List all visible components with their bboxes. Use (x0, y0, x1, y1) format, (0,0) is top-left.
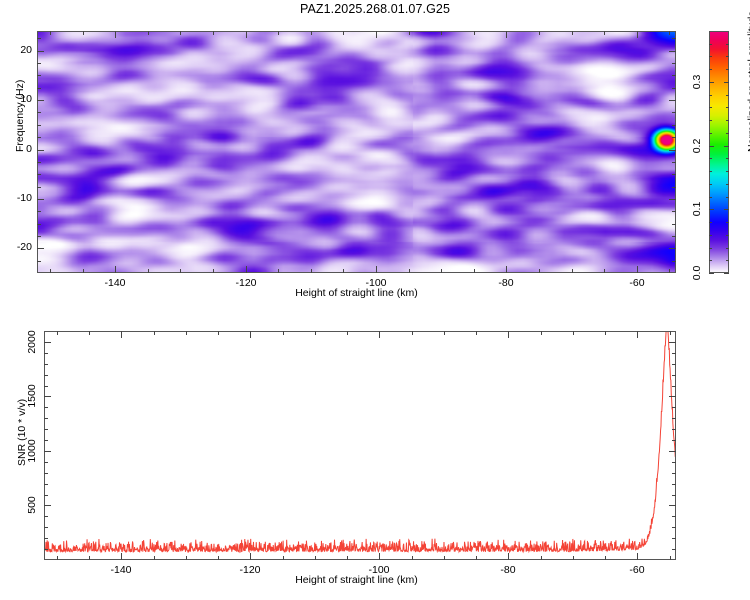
tick-mark (709, 209, 714, 210)
tick-mark (37, 75, 41, 76)
tick-mark (250, 553, 251, 560)
tick-mark (572, 269, 573, 273)
tick-mark (669, 100, 676, 101)
tick-mark (726, 95, 729, 96)
tick-mark (726, 171, 729, 172)
tick-mark (637, 553, 638, 560)
tick-mark (709, 56, 712, 57)
tick-mark (709, 171, 712, 172)
tick-label: 0 (26, 143, 32, 155)
tick-mark (44, 527, 48, 528)
tick-mark (672, 187, 676, 188)
spectrogram-y-axis-label: Frequency (Hz) (14, 80, 26, 152)
tick-label: 20 (20, 44, 32, 56)
tick-mark (709, 184, 712, 185)
tick-mark (37, 211, 41, 212)
tick-mark (57, 556, 58, 560)
tick-mark (44, 407, 48, 408)
tick-mark (726, 260, 729, 261)
tick-mark (506, 31, 507, 38)
tick-mark (376, 31, 377, 38)
tick-mark (44, 353, 48, 354)
tick-mark (672, 386, 676, 387)
tick-mark (669, 51, 676, 52)
colorbar-tick-label: 0.0 (691, 266, 703, 281)
tick-mark (115, 266, 116, 273)
tick-mark (315, 556, 316, 560)
tick-mark (672, 538, 676, 539)
tick-mark (508, 331, 509, 338)
tick-mark (44, 451, 51, 452)
colorbar-tick-label: 0.2 (691, 139, 703, 154)
tick-mark (376, 266, 377, 273)
tick-mark (474, 269, 475, 273)
tick-mark (444, 331, 445, 335)
colorbar-axis-label: Normalized spectral amplitude (746, 11, 750, 152)
tick-mark (44, 364, 48, 365)
tick-mark (278, 269, 279, 273)
tick-mark (44, 386, 48, 387)
tick-mark (672, 364, 676, 365)
tick-mark (669, 150, 676, 151)
tick-mark (709, 95, 712, 96)
tick-mark (709, 235, 712, 236)
tick-mark (44, 462, 48, 463)
tick-mark (726, 107, 729, 108)
tick-mark (724, 82, 729, 83)
tick-mark (37, 236, 41, 237)
tick-mark (709, 273, 714, 274)
tick-mark (476, 556, 477, 560)
tick-label: -20 (17, 241, 32, 253)
tick-mark (724, 146, 729, 147)
spectrogram-x-axis-label: Height of straight line (km) (0, 287, 713, 299)
tick-mark (672, 112, 676, 113)
tick-mark (44, 418, 48, 419)
tick-mark (726, 69, 729, 70)
tick-mark (474, 31, 475, 35)
tick-mark (672, 174, 676, 175)
tick-mark (311, 31, 312, 35)
tick-mark (89, 556, 90, 560)
tick-mark (709, 44, 712, 45)
tick-mark (669, 31, 670, 35)
tick-mark (672, 516, 676, 517)
tick-mark (709, 222, 712, 223)
tick-mark (37, 162, 41, 163)
tick-mark (724, 273, 729, 274)
tick-mark (148, 269, 149, 273)
tick-mark (604, 31, 605, 35)
tick-mark (186, 556, 187, 560)
tick-mark (709, 260, 712, 261)
tick-mark (637, 266, 638, 273)
tick-mark (180, 31, 181, 35)
tick-mark (37, 248, 44, 249)
tick-mark (37, 224, 41, 225)
tick-mark (343, 31, 344, 35)
tick-mark (709, 158, 712, 159)
tick-mark (669, 248, 676, 249)
tick-mark (669, 396, 676, 397)
tick-mark (115, 31, 116, 38)
snr-x-axis-label: Height of straight line (km) (0, 574, 713, 586)
tick-mark (672, 429, 676, 430)
tick-mark (672, 440, 676, 441)
tick-mark (37, 100, 44, 101)
tick-mark (44, 375, 48, 376)
tick-mark (343, 269, 344, 273)
tick-mark (444, 556, 445, 560)
tick-mark (311, 269, 312, 273)
tick-mark (148, 31, 149, 35)
tick-mark (672, 473, 676, 474)
tick-mark (379, 553, 380, 560)
tick-mark (37, 88, 41, 89)
colorbar-tick-label: 0.1 (691, 202, 703, 217)
tick-mark (44, 538, 48, 539)
tick-mark (186, 331, 187, 335)
tick-mark (726, 248, 729, 249)
tick-mark (672, 495, 676, 496)
page-title: PAZ1.2025.268.01.07.G25 (0, 2, 750, 16)
snr-axes-frame (44, 331, 676, 560)
tick-mark (278, 31, 279, 35)
tick-mark (44, 440, 48, 441)
tick-mark (37, 112, 41, 113)
tick-mark (412, 556, 413, 560)
tick-mark (572, 31, 573, 35)
snr-y-axis-label: SNR (10 * v/v) (16, 399, 28, 466)
tick-mark (89, 331, 90, 335)
tick-mark (379, 331, 380, 338)
tick-mark (347, 556, 348, 560)
tick-mark (213, 31, 214, 35)
tick-mark (672, 549, 676, 550)
tick-mark (441, 31, 442, 35)
tick-mark (180, 269, 181, 273)
tick-mark (672, 63, 676, 64)
tick-mark (83, 269, 84, 273)
tick-mark (347, 331, 348, 335)
tick-mark (605, 331, 606, 335)
tick-mark (726, 197, 729, 198)
tick-mark (541, 556, 542, 560)
tick-mark (669, 199, 676, 200)
tick-mark (709, 120, 712, 121)
tick-mark (412, 331, 413, 335)
tick-mark (218, 331, 219, 335)
tick-mark (44, 429, 48, 430)
tick-mark (409, 31, 410, 35)
tick-mark (508, 553, 509, 560)
tick-mark (218, 556, 219, 560)
tick-mark (726, 120, 729, 121)
tick-mark (409, 269, 410, 273)
tick-mark (604, 269, 605, 273)
tick-mark (37, 174, 41, 175)
tick-mark (541, 331, 542, 335)
colorbar-tick-label: 0.3 (691, 75, 703, 90)
tick-mark (672, 38, 676, 39)
tick-mark (44, 516, 48, 517)
tick-mark (672, 261, 676, 262)
tick-mark (441, 269, 442, 273)
tick-mark (709, 133, 712, 134)
tick-mark (44, 505, 51, 506)
tick-mark (37, 199, 44, 200)
tick-mark (672, 137, 676, 138)
tick-label: 2000 (26, 330, 38, 353)
tick-mark (37, 261, 41, 262)
tick-mark (709, 197, 712, 198)
tick-mark (213, 269, 214, 273)
tick-mark (672, 484, 676, 485)
tick-mark (669, 269, 670, 273)
tick-mark (44, 396, 51, 397)
tick-mark (37, 51, 44, 52)
tick-mark (709, 69, 712, 70)
tick-mark (672, 125, 676, 126)
tick-mark (709, 248, 712, 249)
tick-mark (37, 150, 44, 151)
tick-mark (573, 331, 574, 335)
tick-mark (44, 484, 48, 485)
tick-mark (246, 266, 247, 273)
tick-mark (44, 342, 51, 343)
tick-mark (726, 56, 729, 57)
tick-mark (669, 342, 676, 343)
tick-mark (50, 269, 51, 273)
tick-mark (726, 184, 729, 185)
colorbar-frame (709, 31, 729, 273)
tick-mark (37, 38, 41, 39)
tick-mark (724, 209, 729, 210)
tick-mark (44, 549, 48, 550)
tick-mark (315, 331, 316, 335)
tick-mark (672, 224, 676, 225)
tick-label: -10 (17, 192, 32, 204)
spectrogram-axes-frame (37, 31, 676, 273)
tick-mark (44, 473, 48, 474)
tick-mark (670, 556, 671, 560)
tick-mark (672, 75, 676, 76)
tick-mark (726, 222, 729, 223)
tick-mark (605, 556, 606, 560)
tick-mark (672, 527, 676, 528)
tick-mark (37, 63, 41, 64)
tick-mark (37, 125, 41, 126)
tick-mark (44, 495, 48, 496)
tick-mark (283, 331, 284, 335)
tick-mark (539, 31, 540, 35)
tick-mark (672, 375, 676, 376)
tick-mark (672, 236, 676, 237)
tick-mark (672, 462, 676, 463)
tick-mark (672, 353, 676, 354)
tick-mark (726, 133, 729, 134)
tick-mark (573, 556, 574, 560)
tick-mark (250, 331, 251, 338)
tick-mark (83, 31, 84, 35)
tick-mark (637, 331, 638, 338)
tick-mark (246, 31, 247, 38)
tick-mark (726, 44, 729, 45)
tick-mark (726, 235, 729, 236)
tick-mark (154, 331, 155, 335)
tick-mark (57, 331, 58, 335)
tick-mark (476, 331, 477, 335)
figure-root: PAZ1.2025.268.01.07.G25 -140-120-100-80-… (0, 0, 750, 600)
tick-mark (121, 331, 122, 338)
tick-label: 500 (26, 496, 38, 514)
tick-mark (669, 505, 676, 506)
tick-mark (50, 31, 51, 35)
tick-mark (283, 556, 284, 560)
tick-mark (709, 146, 714, 147)
tick-mark (672, 162, 676, 163)
tick-mark (672, 211, 676, 212)
tick-mark (121, 553, 122, 560)
tick-mark (669, 451, 676, 452)
tick-mark (672, 88, 676, 89)
tick-mark (37, 187, 41, 188)
tick-mark (709, 82, 714, 83)
tick-mark (726, 158, 729, 159)
tick-mark (709, 107, 712, 108)
tick-mark (670, 331, 671, 335)
tick-mark (506, 266, 507, 273)
tick-mark (637, 31, 638, 38)
tick-mark (672, 418, 676, 419)
tick-mark (154, 556, 155, 560)
tick-mark (37, 137, 41, 138)
tick-mark (672, 407, 676, 408)
tick-mark (539, 269, 540, 273)
